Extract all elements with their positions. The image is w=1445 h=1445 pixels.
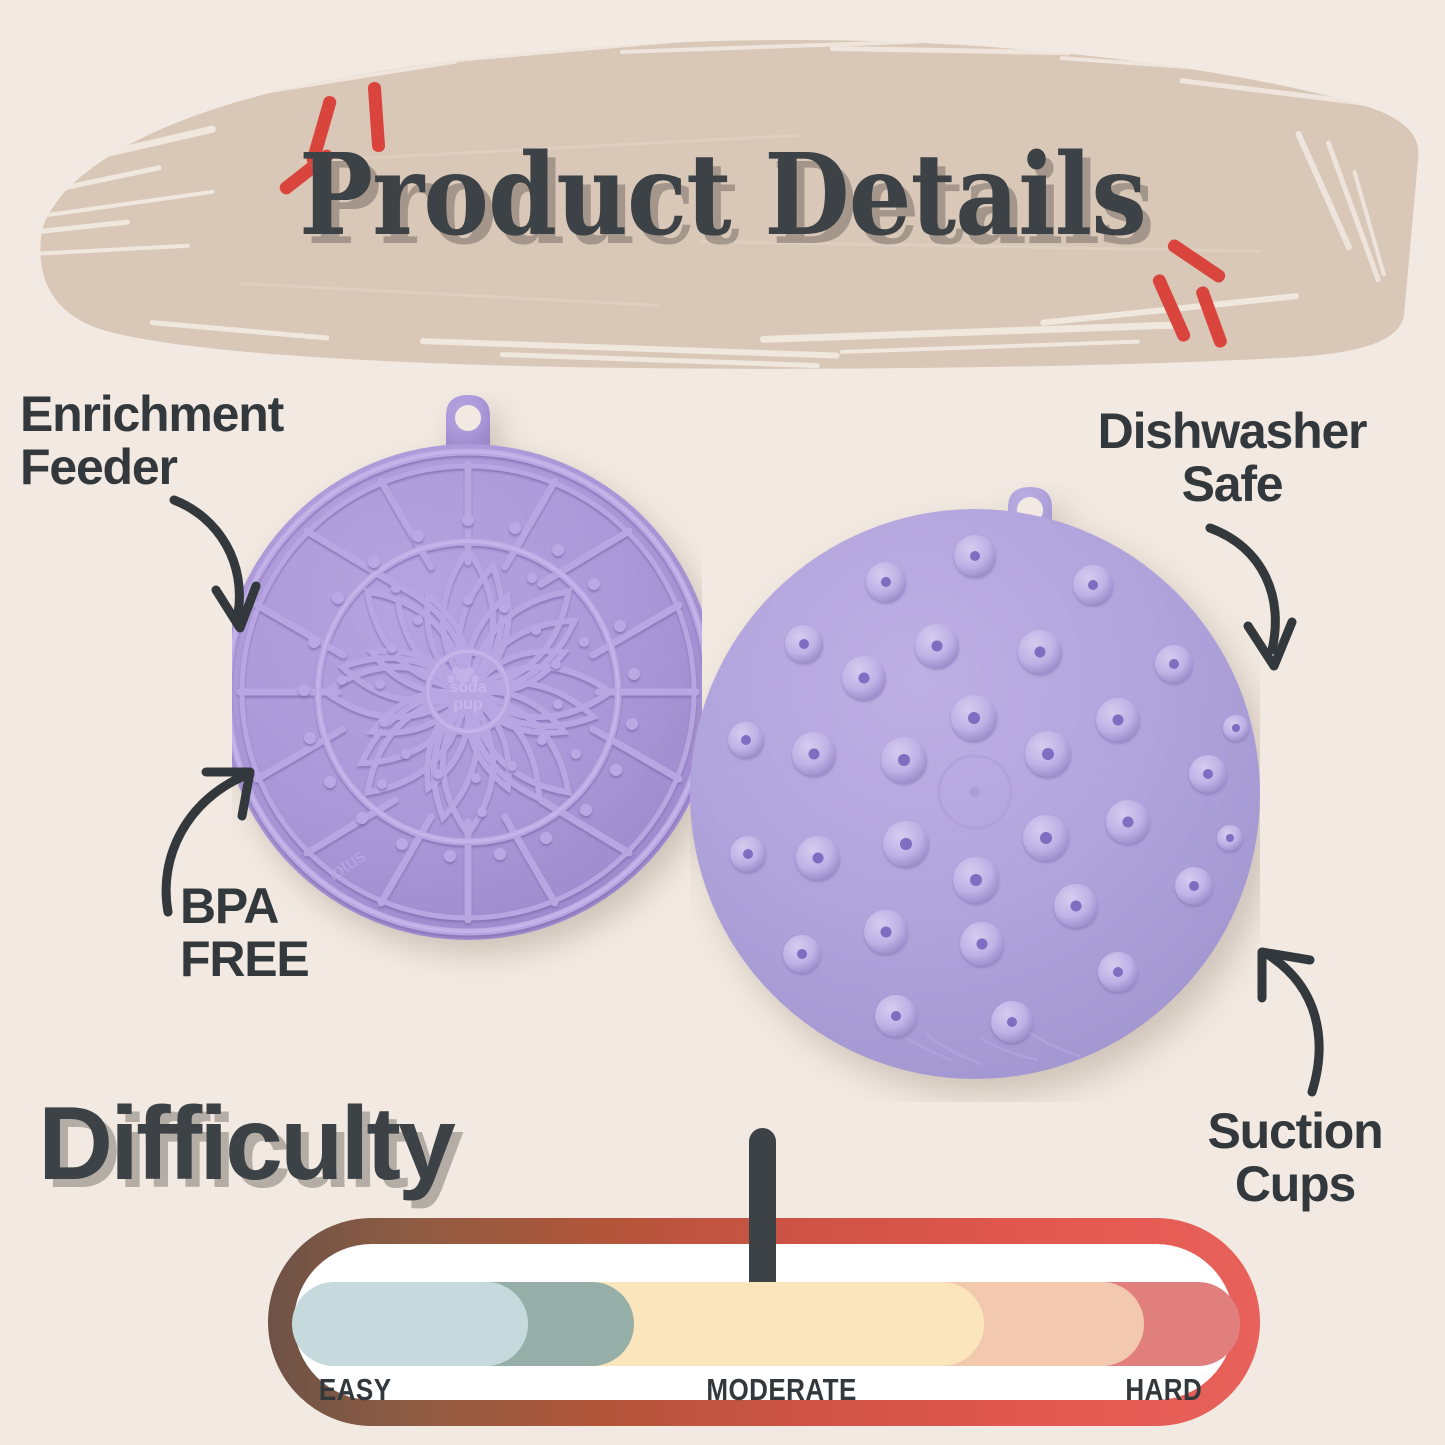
- meter-segment-easy: [292, 1282, 528, 1366]
- meter-label-moderate: MODERATE: [706, 1372, 856, 1408]
- svg-text:pup: pup: [453, 696, 483, 713]
- arrow-suction-cups: [1240, 940, 1370, 1100]
- callout-suction-cups: Suction Cups: [1160, 1105, 1430, 1211]
- product-brand-text: soda: [449, 679, 486, 696]
- arrow-dishwasher-safe: [1200, 520, 1320, 680]
- product-back-suction: [690, 482, 1260, 1102]
- callout-enrichment-feeder: Enrichment Feeder: [20, 388, 440, 494]
- page-title: Product Details: [87, 130, 1359, 261]
- infographic-page: Product Details: [0, 0, 1445, 1445]
- meter-label-easy: EASY: [319, 1372, 392, 1408]
- callout-enrichment-line2: Feeder: [20, 441, 440, 494]
- difficulty-title: Difficulty: [38, 1085, 453, 1204]
- callout-bpa-line2: FREE: [180, 933, 480, 986]
- arrow-enrichment-feeder: [160, 492, 290, 652]
- callout-dishwasher-line2: Safe: [1032, 458, 1432, 511]
- callout-dishwasher-safe: Dishwasher Safe: [1032, 405, 1432, 511]
- arrow-bpa-free: [150, 760, 270, 920]
- difficulty-meter-track: [292, 1282, 1240, 1366]
- callout-suction-line2: Cups: [1160, 1158, 1430, 1211]
- callout-enrichment-line1: Enrichment: [20, 388, 440, 441]
- callout-dishwasher-line1: Dishwasher: [1032, 405, 1432, 458]
- meter-label-hard: HARD: [1125, 1372, 1202, 1408]
- callout-suction-line1: Suction: [1160, 1105, 1430, 1158]
- difficulty-meter-labels: EASY MODERATE HARD: [292, 1372, 1240, 1412]
